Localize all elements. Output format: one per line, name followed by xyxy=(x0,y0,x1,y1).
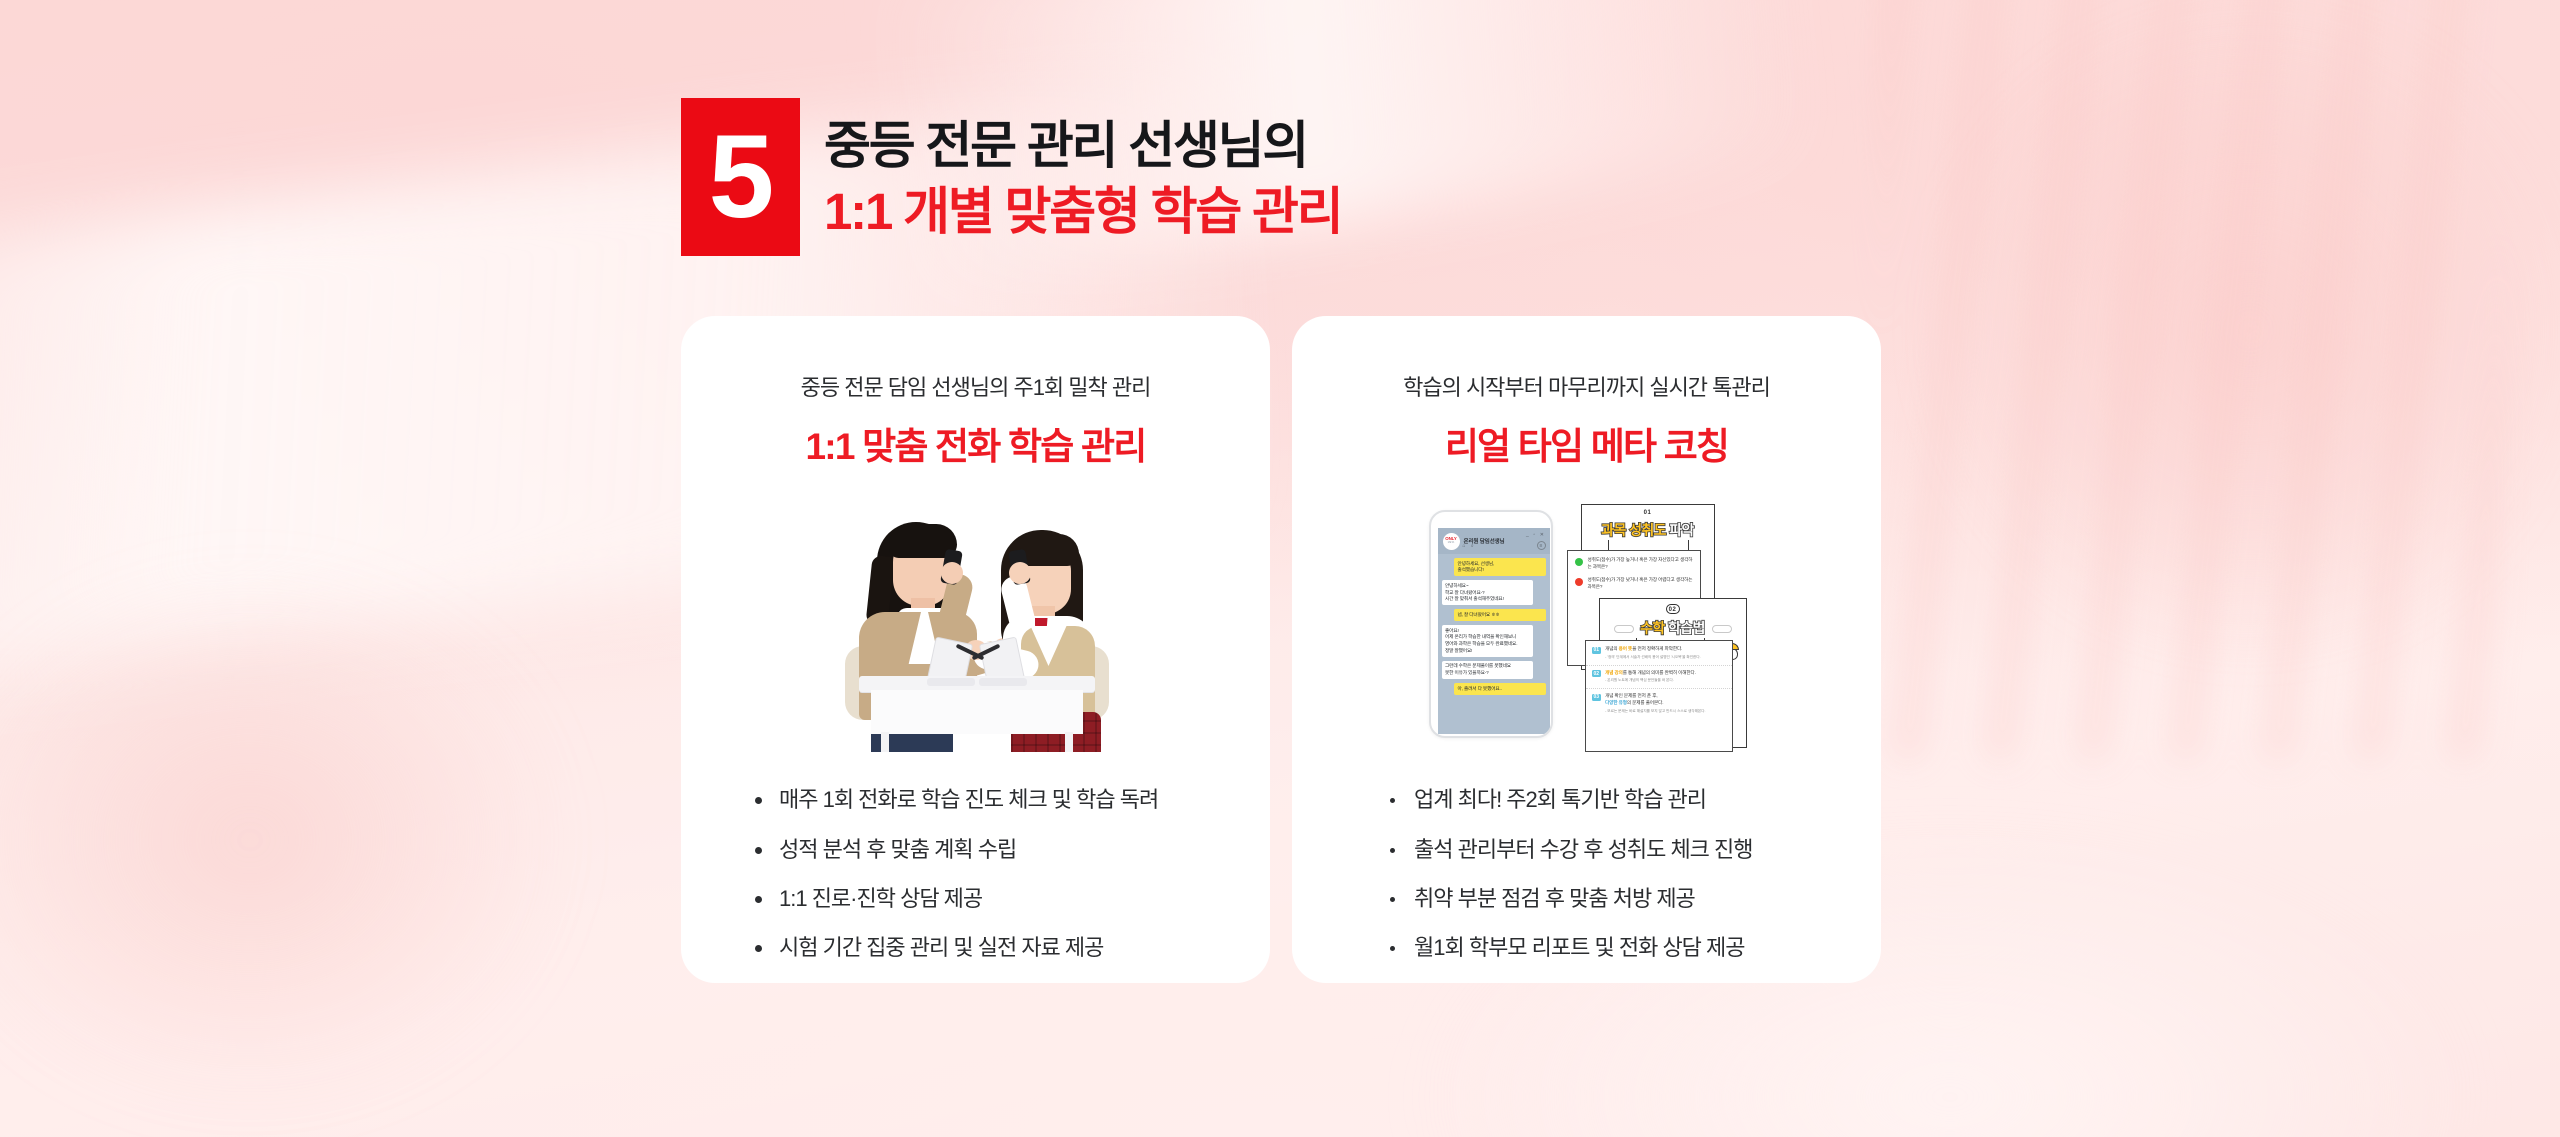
lesson-content: 개념 확인 문제를 먼저 푼 후, 다양한 유형의 문제를 풀어본다. - 모르… xyxy=(1605,693,1705,713)
hamburger-menu-icon[interactable]: ≡ xyxy=(1537,541,1546,550)
list-item: 성적 분석 후 맞춤 계획 수립 xyxy=(753,836,1236,864)
lesson-content: 개념 강의를 통해 개념의 의미를 완벽히 이해한다. - 온리원 노트에 개념… xyxy=(1605,670,1696,684)
lesson-text-accent: 개념 강의 xyxy=(1605,670,1623,675)
lesson-text-after: 를 통해 개념의 의미를 완벽히 이해한다. xyxy=(1623,670,1696,675)
report-sheet-02-lessons: 01 개념의 용어 뜻을 먼저 정확하게 파악한다. - '정의' 단계에서 서… xyxy=(1585,640,1733,752)
feature-card-meta-coaching: 학습의 시작부터 마무리까지 실시간 톡관리 리얼 타임 메타 코칭 01 과목… xyxy=(1292,316,1881,983)
lesson-text: 개념 확인 문제를 먼저 푼 후, 다양한 유형의 문제를 풀어본다. xyxy=(1605,693,1705,706)
card-kicker: 학습의 시작부터 마무리까지 실시간 톡관리 xyxy=(1403,370,1770,402)
lesson-text: 개념 강의를 통해 개념의 의미를 완벽히 이해한다. xyxy=(1605,670,1696,677)
cloud-icon xyxy=(1614,625,1634,633)
tablet-left-stand-shape xyxy=(927,678,975,686)
lesson-row: 02 개념 강의를 통해 개념의 의미를 완벽히 이해한다. - 온리원 노트에… xyxy=(1586,665,1732,684)
lesson-text-before: 개념 확인 문제를 먼저 푼 후, xyxy=(1605,693,1657,698)
cloud-icon xyxy=(1712,625,1732,633)
phone-mockup: ONLY META 온리원 담임선생님 ⌂ ⌕ _ ▫ ✕ ≡ 안녕하세요, 선… xyxy=(1429,510,1553,738)
card-kicker: 중등 전문 담임 선생님의 주1회 밀착 관리 xyxy=(801,370,1151,402)
list-item: 매주 1회 전화로 학습 진도 체크 및 학습 독려 xyxy=(753,786,1236,814)
list-item: 업계 최다! 주2회 톡기반 학습 관리 xyxy=(1388,786,1847,814)
table-leg-left-shape xyxy=(881,732,889,752)
lesson-text: 개념의 용어 뜻을 먼저 정확하게 파악한다. xyxy=(1605,646,1701,653)
card-title: 1:1 맞춤 전화 학습 관리 xyxy=(806,416,1146,470)
status-dot-red-icon xyxy=(1575,578,1583,586)
promo-page: 5 중등 전문 관리 선생님의 1:1 개별 맞춤형 학습 관리 중등 전문 담… xyxy=(0,0,2560,1137)
chat-message-outgoing: 아, 졸려서 다 못했어요.. xyxy=(1454,683,1546,695)
lesson-text-before: 개념의 xyxy=(1605,646,1619,651)
chat-message-outgoing: 넵, 잘 다녀왔어요 ㅎㅎ xyxy=(1454,609,1546,621)
window-controls[interactable]: _ ▫ ✕ xyxy=(1526,532,1546,538)
list-item: 월1회 학부모 리포트 및 전화 상담 제공 xyxy=(1388,934,1847,962)
card-bullet-list-left: 매주 1회 전화로 학습 진도 체크 및 학습 독려 성적 분석 후 맞춤 계획… xyxy=(715,786,1236,983)
background-streaks xyxy=(1880,0,2500,760)
lesson-subtext: - '정의' 단계에서 서술자 선배의 용어 설명인 '시오복'을 확인한다. xyxy=(1605,655,1701,660)
feature-card-row: 중등 전문 담임 선생님의 주1회 밀착 관리 1:1 맞춤 전화 학습 관리 xyxy=(681,316,1881,983)
photo-teacher-student xyxy=(845,500,1107,752)
logo-text-bottom: META xyxy=(1448,542,1454,544)
chat-window-header: ONLY META 온리원 담임선생님 ⌂ ⌕ _ ▫ ✕ ≡ xyxy=(1438,528,1550,554)
lesson-number: 03 xyxy=(1592,694,1602,701)
header-title-group: 중등 전문 관리 선생님의 1:1 개별 맞춤형 학습 관리 xyxy=(824,98,1341,256)
chat-message-outgoing: 안녕하세요, 선생님, 출석했습니다! xyxy=(1454,558,1546,576)
report-sheet-01-title-highlight: 과목 성취도 xyxy=(1601,522,1666,538)
chat-message-incoming: 안녕하세요~ 학교 잘 다녀왔어요-? 시간 잘 맞춰서 출석해주었네요! xyxy=(1442,580,1534,605)
chat-window: ONLY META 온리원 담임선생님 ⌂ ⌕ _ ▫ ✕ ≡ 안녕하세요, 선… xyxy=(1438,528,1550,734)
chat-toolbar-icons[interactable]: ⌂ ⌕ xyxy=(1463,543,1476,549)
feature-card-phone-coaching: 중등 전문 담임 선생님의 주1회 밀착 관리 1:1 맞춤 전화 학습 관리 xyxy=(681,316,1270,983)
report-sheet-02-title-highlight: 수학 xyxy=(1640,620,1665,636)
lesson-subtext: - 모르는 문제는 바로 해설지를 보지 않고 반드시 스스로 생각해본다. xyxy=(1605,709,1705,714)
tablet-right-stand-shape xyxy=(979,678,1027,686)
report-sheet-01-title-plain: 파악 xyxy=(1669,522,1694,538)
background-shadow-left xyxy=(0,460,700,1137)
lesson-text-after: 의 문제를 풀어본다. xyxy=(1627,700,1664,705)
card-illustration-chat-report: 01 과목 성취도 파악 성취도(점수)가 가장 xyxy=(1326,500,1847,752)
table-leg-right-shape xyxy=(1065,732,1073,752)
question-row: 성취도(점수)가 가장 높거나 혹은 가장 자신있다고 생각하는 과목은? xyxy=(1568,557,1700,571)
chat-message-incoming: 그런데 수학은 문제풀이를 못했네요 못한 이유가 있을까요-? xyxy=(1442,661,1534,679)
report-sheet-01-title: 과목 성취도 파악 xyxy=(1582,520,1714,540)
card-bullet-list-right: 업계 최다! 주2회 톡기반 학습 관리 출석 관리부터 수강 후 성취도 체크… xyxy=(1326,786,1847,983)
list-item: 1:1 진로·진학 상담 제공 xyxy=(753,885,1236,913)
lesson-row: 01 개념의 용어 뜻을 먼저 정확하게 파악한다. - '정의' 단계에서 서… xyxy=(1586,646,1732,660)
lesson-content: 개념의 용어 뜻을 먼저 정확하게 파악한다. - '정의' 단계에서 서술자 … xyxy=(1605,646,1701,660)
lesson-number: 01 xyxy=(1592,647,1602,654)
lesson-text-accent: 다양한 유형 xyxy=(1605,700,1627,705)
student-raised-hand-shape xyxy=(1009,562,1031,584)
status-dot-green-icon xyxy=(1575,558,1583,566)
onlyone-logo-icon: ONLY META xyxy=(1443,533,1460,550)
card-title: 리얼 타임 메타 코칭 xyxy=(1445,416,1728,470)
lesson-subtext: - 온리원 노트에 개념의 핵심 문언들을 써 본다. xyxy=(1605,678,1696,683)
card-illustration-phone-call xyxy=(715,500,1236,752)
lesson-number: 02 xyxy=(1592,670,1602,677)
question-text: 성취도(점수)가 가장 높거나 혹은 가장 자신있다고 생각하는 과목은? xyxy=(1588,557,1693,571)
list-item: 시험 기간 집중 관리 및 실전 자료 제공 xyxy=(753,934,1236,962)
chat-and-reports-group: 01 과목 성취도 파악 성취도(점수)가 가장 xyxy=(1427,500,1747,752)
lesson-text-after: 을 먼저 정확하게 파악한다. xyxy=(1632,646,1682,651)
report-sheet-02-number: 02 xyxy=(1666,604,1680,614)
header-line-2: 1:1 개별 맞춤형 학습 관리 xyxy=(824,179,1341,245)
lesson-row: 03 개념 확인 문제를 먼저 푼 후, 다양한 유형의 문제를 풀어본다. -… xyxy=(1586,688,1732,713)
chat-message-list: 안녕하세요, 선생님, 출석했습니다! 안녕하세요~ 학교 잘 다녀왔어요-? … xyxy=(1438,554,1550,695)
lesson-text-accent: 용어 뜻 xyxy=(1619,646,1633,651)
step-number-badge: 5 xyxy=(681,98,800,256)
question-text: 성취도(점수)가 가장 낮거나 혹은 가장 어렵다고 생각하는 과목은? xyxy=(1588,577,1693,591)
header-line-1: 중등 전문 관리 선생님의 xyxy=(824,113,1341,179)
report-sheet-01-number: 01 xyxy=(1582,510,1714,516)
list-item: 취약 부분 점검 후 맞춤 처방 제공 xyxy=(1388,885,1847,913)
section-header: 5 중등 전문 관리 선생님의 1:1 개별 맞춤형 학습 관리 xyxy=(681,98,1341,256)
chat-message-incoming: 좋아요! 어제 온리가 학습한 내역을 확인해보니 영어와 과학은 학습을 모두… xyxy=(1442,625,1534,657)
question-row: 성취도(점수)가 가장 낮거나 혹은 가장 어렵다고 생각하는 과목은? xyxy=(1568,577,1700,591)
teacher-raised-hand-shape xyxy=(941,562,963,584)
list-item: 출석 관리부터 수강 후 성취도 체크 진행 xyxy=(1388,836,1847,864)
report-sheet-02-title-plain: 학습법 xyxy=(1668,620,1705,636)
table-body-shape xyxy=(871,690,1083,734)
